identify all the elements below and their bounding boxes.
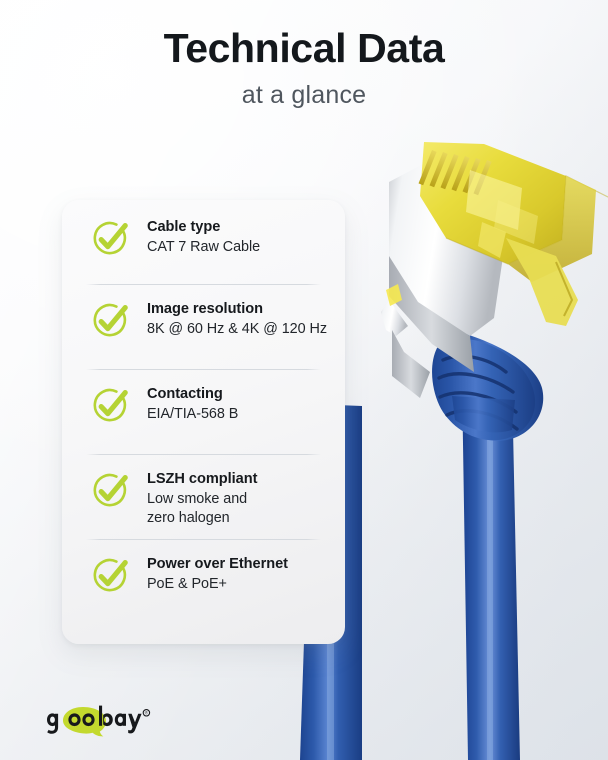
spec-row-cable-type: Cable type CAT 7 Raw Cable [62, 200, 345, 274]
spec-value: CAT 7 Raw Cable [147, 238, 260, 258]
check-circle-icon [88, 469, 132, 513]
spec-value: EIA/TIA-568 B [147, 405, 238, 425]
header: Technical Data at a glance [0, 26, 608, 110]
spec-value-line: PoE & PoE+ [147, 575, 288, 595]
page-title: Technical Data [0, 26, 608, 72]
check-circle-icon [88, 299, 132, 343]
spec-text: Image resolution 8K @ 60 Hz & 4K @ 120 H… [147, 299, 327, 339]
spec-value-line: 8K @ 60 Hz & 4K @ 120 Hz [147, 320, 327, 340]
spec-value-line: Low smoke and [147, 490, 257, 510]
spec-value: PoE & PoE+ [147, 575, 288, 595]
spec-list: Cable type CAT 7 Raw Cable Image resolut… [62, 200, 345, 614]
spec-value: 8K @ 60 Hz & 4K @ 120 Hz [147, 320, 327, 340]
check-circle-icon [88, 384, 132, 428]
spec-label: LSZH compliant [147, 471, 257, 487]
spec-row-image-resolution: Image resolution 8K @ 60 Hz & 4K @ 120 H… [62, 285, 345, 359]
page-subtitle: at a glance [0, 81, 608, 110]
poster-canvas: Technical Data at a glance Cable type CA… [0, 0, 608, 760]
rj45-connector-back [381, 142, 608, 760]
spec-value: Low smoke and zero halogen [147, 490, 257, 529]
spec-text: Cable type CAT 7 Raw Cable [147, 217, 260, 257]
brand-logo: ® [47, 703, 159, 737]
spec-row-power-over-ethernet: Power over Ethernet PoE & PoE+ [62, 540, 345, 614]
spec-label: Cable type [147, 219, 220, 235]
spec-row-lszh-compliant: LSZH compliant Low smoke and zero haloge… [62, 455, 345, 529]
spec-card: Cable type CAT 7 Raw Cable Image resolut… [62, 200, 345, 644]
check-circle-icon [88, 217, 132, 261]
spec-value-line: CAT 7 Raw Cable [147, 238, 260, 258]
spec-value-line: zero halogen [147, 509, 257, 529]
spec-label: Contacting [147, 386, 223, 402]
spec-row-contacting: Contacting EIA/TIA-568 B [62, 370, 345, 444]
spec-label: Power over Ethernet [147, 556, 288, 572]
check-circle-icon [88, 554, 132, 598]
goobay-logo-icon: ® [47, 703, 159, 737]
spec-text: LSZH compliant Low smoke and zero haloge… [147, 469, 257, 529]
spec-text: Contacting EIA/TIA-568 B [147, 384, 238, 424]
spec-label: Image resolution [147, 301, 263, 317]
logo-trademark: ® [145, 710, 149, 715]
spec-text: Power over Ethernet PoE & PoE+ [147, 554, 288, 594]
spec-value-line: EIA/TIA-568 B [147, 405, 238, 425]
